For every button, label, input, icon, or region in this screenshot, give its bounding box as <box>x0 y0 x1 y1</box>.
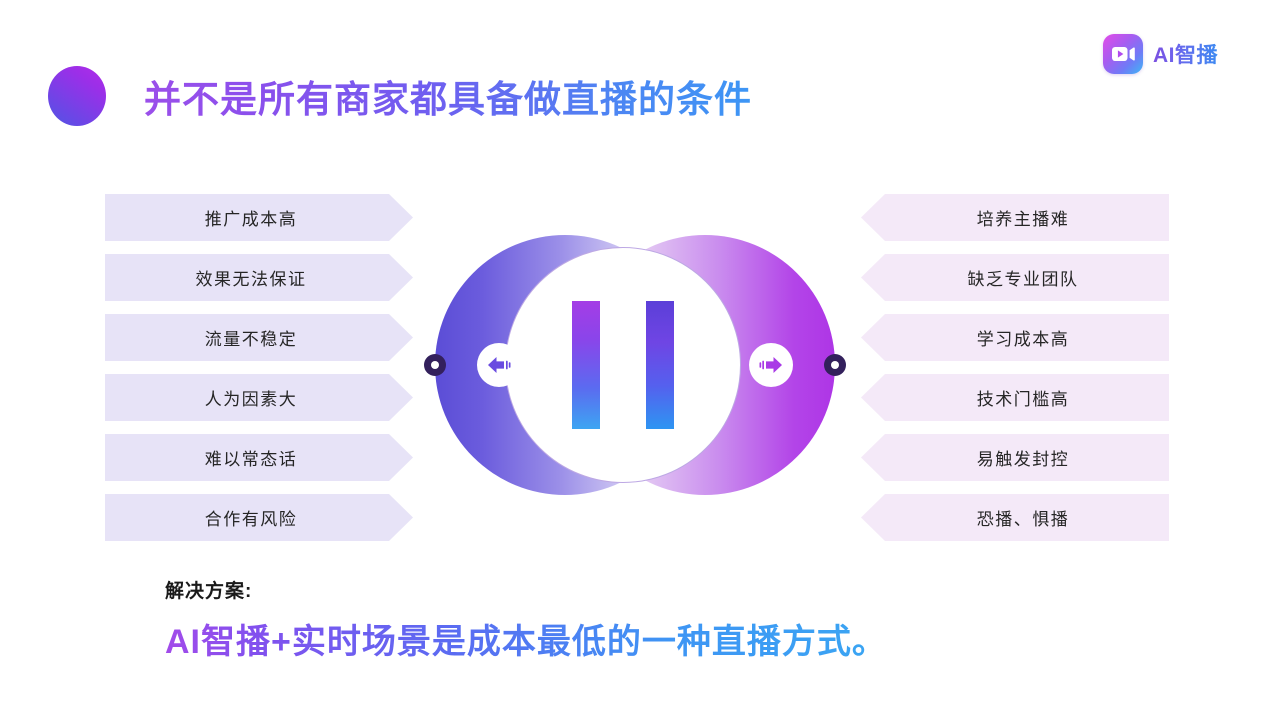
endpoint-dot-icon <box>824 354 846 376</box>
list-item[interactable]: 人为因素大 <box>105 374 413 421</box>
endpoint-dot-icon <box>424 354 446 376</box>
video-camera-play-icon <box>1103 34 1143 74</box>
page-title: 并不是所有商家都具备做直播的条件 <box>144 69 752 123</box>
slide-canvas: AI智播 并不是所有商家都具备做直播的条件 推广成本高 效果无法保证 流量不稳定… <box>0 0 1280 720</box>
list-item[interactable]: 易触发封控 <box>861 434 1169 481</box>
right-label-column: 培养主播难 缺乏专业团队 学习成本高 技术门槛高 易触发封控 恐播、惧播 <box>861 194 1169 541</box>
arrow-right-icon[interactable] <box>749 343 793 387</box>
list-item[interactable]: 恐播、惧播 <box>861 494 1169 541</box>
list-item[interactable]: 推广成本高 <box>105 194 413 241</box>
list-item[interactable]: 流量不稳定 <box>105 314 413 361</box>
brand-logo-text: AI智播 <box>1153 39 1218 69</box>
list-item[interactable]: 合作有风险 <box>105 494 413 541</box>
page-title-row: 并不是所有商家都具备做直播的条件 <box>48 66 752 126</box>
title-bullet-icon <box>48 66 106 126</box>
venn-left-label: 外部合作 <box>572 301 600 429</box>
list-item[interactable]: 效果无法保证 <box>105 254 413 301</box>
list-item[interactable]: 学习成本高 <box>861 314 1169 361</box>
brand-logo: AI智播 <box>1103 34 1218 74</box>
solution-label: 解决方案: <box>165 576 252 603</box>
list-item[interactable]: 缺乏专业团队 <box>861 254 1169 301</box>
list-item[interactable]: 培养主播难 <box>861 194 1169 241</box>
solution-statement: AI智播+实时场景是成本最低的一种直播方式。 <box>165 614 887 663</box>
list-item[interactable]: 技术门槛高 <box>861 374 1169 421</box>
list-item[interactable]: 难以常态话 <box>105 434 413 481</box>
venn-diagram: 外部合作 自己推广 <box>435 235 835 495</box>
venn-overlap-center: 外部合作 自己推广 <box>505 247 741 483</box>
arrow-left-icon[interactable] <box>477 343 521 387</box>
venn-right-label: 自己推广 <box>646 301 674 429</box>
left-label-column: 推广成本高 效果无法保证 流量不稳定 人为因素大 难以常态话 合作有风险 <box>105 194 413 541</box>
